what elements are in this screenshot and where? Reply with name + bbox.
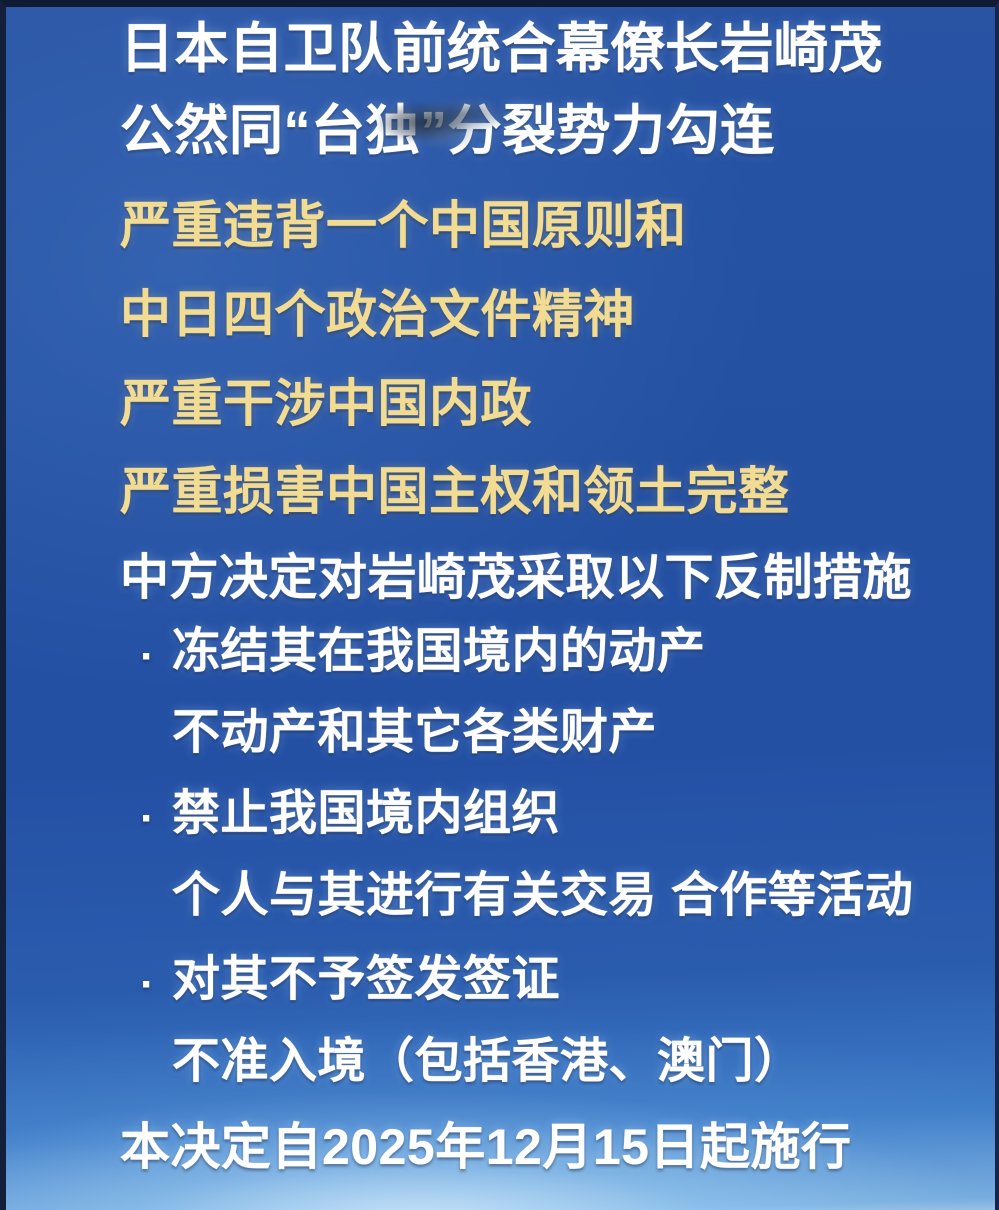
headline-line-2-text: 公然同“台独”分裂势力勾连 [120, 104, 775, 158]
measure-bullet-3: · [140, 960, 155, 1010]
measure-2-line-2: 个人与其进行有关交易 合作等活动 [172, 872, 999, 920]
measure-2-line-1-text: 禁止我国境内组织 [172, 790, 560, 838]
measure-bullet-2: · [140, 794, 155, 844]
measure-3-line-1: 对其不予签发签证 [172, 956, 999, 1004]
measure-3-line-2-text: 不准入境（包括香港、澳门） [172, 1038, 803, 1086]
measure-3-line-1-text: 对其不予签发签证 [172, 956, 560, 1004]
measure-1-line-2-text: 不动产和其它各类财产 [172, 709, 657, 757]
charge-line-3: 严重干涉中国内政 [120, 378, 999, 429]
effective-date-line: 本决定自2025年12月15日起施行 [120, 1122, 999, 1172]
measure-2-line-1: 禁止我国境内组织 [172, 790, 999, 838]
headline-line-2: 公然同“台独”分裂势力勾连 [120, 104, 999, 158]
measure-1-line-2: 不动产和其它各类财产 [172, 709, 999, 757]
charge-line-4-text: 严重损害中国主权和领土完整 [120, 466, 790, 517]
charge-line-2: 中日四个政治文件精神 [120, 289, 999, 340]
charge-line-1: 严重违背一个中国原则和 [120, 200, 999, 251]
headline-line-1: 日本自卫队前统合幕僚长岩崎茂 [120, 22, 999, 76]
charge-line-2-text: 中日四个政治文件精神 [120, 289, 635, 340]
measure-1-line-1: 冻结其在我国境内的动产 [172, 628, 999, 676]
effective-date-text: 本决定自2025年12月15日起施行 [120, 1122, 851, 1172]
measure-2-line-2-text: 个人与其进行有关交易 合作等活动 [172, 872, 913, 920]
measure-3-line-2: 不准入境（包括香港、澳门） [172, 1038, 999, 1086]
measure-bullet-1: · [140, 632, 155, 682]
charge-line-3-text: 严重干涉中国内政 [120, 378, 532, 429]
measures-intro-text: 中方决定对岩崎茂采取以下反制措施 [120, 554, 912, 603]
news-graphic-poster: 日本自卫队前统合幕僚长岩崎茂 公然同“台独”分裂势力勾连 严重违背一个中国原则和… [0, 0, 999, 1210]
headline-line-1-text: 日本自卫队前统合幕僚长岩崎茂 [120, 22, 883, 76]
charge-line-4: 严重损害中国主权和领土完整 [120, 466, 999, 517]
charge-line-1-text: 严重违背一个中国原则和 [120, 200, 687, 251]
measures-intro: 中方决定对岩崎茂采取以下反制措施 [120, 554, 999, 603]
text-block: 日本自卫队前统合幕僚长岩崎茂 公然同“台独”分裂势力勾连 严重违背一个中国原则和… [0, 0, 999, 1210]
measure-1-line-1-text: 冻结其在我国境内的动产 [172, 628, 706, 676]
